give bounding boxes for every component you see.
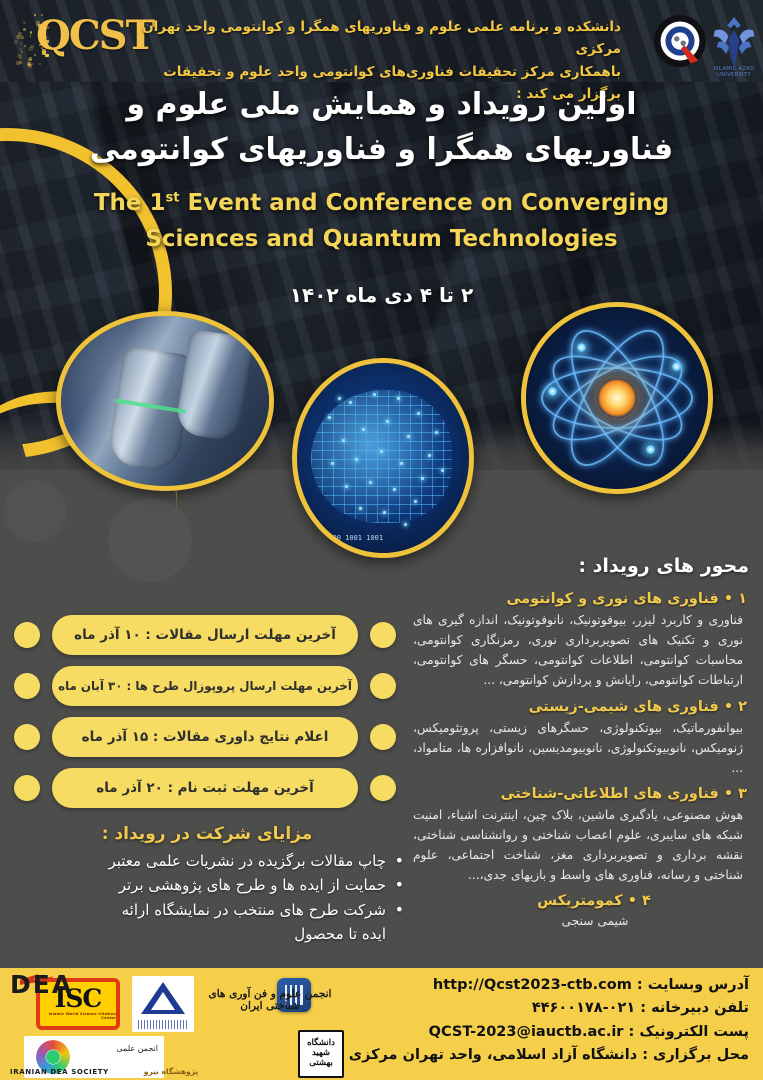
topic-item: ۳ • فناوری های اطلاعاتی-شناختی هوش مصنوع… <box>407 786 755 886</box>
isc-subtitle: Islamic World Science Citation Center <box>40 1012 116 1020</box>
website-url[interactable]: http://Qcst2023-ctb.com <box>433 977 632 993</box>
decoration-dot-left <box>14 775 40 801</box>
ordinal-suffix: st <box>166 190 180 205</box>
topic-title: ۴ • کمومتریکس <box>407 893 747 909</box>
venue-label: محل برگزاری : <box>642 1047 749 1063</box>
decoration-dot-right <box>370 622 396 648</box>
decoration-dot-left <box>14 622 40 648</box>
organizer-line-1: دانشکده و برنامه علمی علوم و فناوریهای ه… <box>121 16 621 61</box>
venue-line: محل برگزاری : دانشگاه آزاد اسلامی، واحد … <box>319 1044 749 1067</box>
email-line: پست الکترونیک : QCST-2023@iauctb.ac.ir <box>319 1021 749 1044</box>
benefit-item: حمایت از ایده ها و طرح های پژوهشی برتر <box>8 873 406 897</box>
english-title-line-1: The 1st Event and Conference on Convergi… <box>0 186 763 222</box>
decoration-dot-left <box>14 673 40 699</box>
decoration-dot-right <box>370 724 396 750</box>
deadline-pill: آخرین مهلت ارسال پروپوزال طرح ها : ۳۰ آب… <box>52 666 358 706</box>
sponsor-logos: ISC Islamic World Science Citation Cente… <box>6 972 336 1078</box>
deadline-row: آخرین مهلت ارسال پروپوزال طرح ها : ۳۰ آب… <box>0 663 410 709</box>
topic-number: ۴ • <box>628 893 651 909</box>
qcst-circular-logo-icon <box>653 14 707 68</box>
islamic-azad-university-logo-icon <box>712 12 756 74</box>
event-date: ۲ تا ۴ دی ماه ۱۴۰۲ <box>0 283 763 307</box>
topic-title: ۳ • فناوری های اطلاعاتی-شناختی <box>407 786 747 802</box>
topic-number: ۱ • <box>724 591 747 607</box>
email-address[interactable]: QCST-2023@iauctb.ac.ir <box>429 1024 624 1040</box>
phone-label: تلفن دبیرخانه : <box>640 1000 749 1016</box>
persian-title-line-2: فناوریهای همگرا و فناوریهای کوانتومی <box>0 127 763 172</box>
deadline-row: آخرین مهلت ثبت نام : ۲۰ آذر ماه <box>0 765 410 811</box>
footer-bar: آدرس وبسایت : http://Qcst2023-ctb.com تل… <box>0 968 763 1080</box>
topic-label: کمومتریکس <box>537 893 623 909</box>
persian-title-line-1: اولین رویداد و همایش ملی علوم و <box>0 82 763 127</box>
phone-number: ۰۲۱-۴۴۶۰۰۱۷۸ <box>532 1000 635 1016</box>
decoration-dot-right <box>370 673 396 699</box>
dea-subtitle: IRANIAN DEA SOCIETY <box>10 1068 109 1076</box>
contact-info: آدرس وبسایت : http://Qcst2023-ctb.com تل… <box>319 974 749 1068</box>
topic-title: ۱ • فناوری های نوری و کوانتومی <box>407 591 747 607</box>
topic-item: ۴ • کمومتریکس شیمی سنجی <box>407 893 755 932</box>
shahid-beheshti-university-logo: دانشگاه شهید بهشتی <box>298 1030 344 1078</box>
topic-label: فناوری های اطلاعاتی-شناختی <box>501 786 719 802</box>
topic-label: فناوری های نوری و کوانتومی <box>506 591 718 607</box>
benefits-section: مزایای شرکت در رویداد : چاپ مقالات برگزی… <box>8 824 406 946</box>
topic-body: شیمی سنجی <box>407 912 755 932</box>
deadline-pill: آخرین مهلت ثبت نام : ۲۰ آذر ماه <box>52 768 358 808</box>
topic-title: ۲ • فناوری های شیمی-زیستی <box>407 699 747 715</box>
qcst-logo: QCST <box>10 8 134 70</box>
deadlines-section: آخرین مهلت ارسال مقالات : ۱۰ آذر ماه آخر… <box>0 612 410 816</box>
benefit-continuation: ایده تا محصول <box>8 922 406 946</box>
website-label: آدرس وبسایت : <box>637 977 749 993</box>
decoration-dot-left <box>14 724 40 750</box>
circuit-brain-image: 0110 0100 1001 1001 <box>292 358 474 558</box>
persian-title: اولین رویداد و همایش ملی علوم و فناوریها… <box>0 82 763 172</box>
deadline-pill: اعلام نتایج داوری مقالات : ۱۵ آذر ماه <box>52 717 358 757</box>
decoration-dot-right <box>370 775 396 801</box>
english-title-prefix: The 1 <box>94 190 166 216</box>
binary-code-text: 0110 0100 1001 1001 <box>303 534 383 543</box>
triangle-institute-logo <box>132 976 194 1032</box>
email-label: پست الکترونیک : <box>629 1024 749 1040</box>
deadline-pill: آخرین مهلت ارسال مقالات : ۱۰ آذر ماه <box>52 615 358 655</box>
benefits-heading: مزایای شرکت در رویداد : <box>8 824 406 844</box>
science-association-name: انجمن علمی <box>116 1044 158 1054</box>
sbu-name: دانشگاه شهید بهشتی <box>302 1034 340 1074</box>
venue-name: دانشگاه آزاد اسلامی، واحد تهران مرکزی <box>349 1047 637 1063</box>
nucleus <box>597 378 637 418</box>
topics-heading: محور های رویداد : <box>407 555 755 583</box>
benefit-item: شرکت طرح های منتخب در نمایشگاه ارائه <box>8 898 406 922</box>
topic-number: ۲ • <box>724 699 747 715</box>
dea-title: DEA <box>10 972 73 997</box>
conference-poster: QCST دانشکده و برنامه علمی علوم و فناوری… <box>0 0 763 1080</box>
deadline-row: اعلام نتایج داوری مقالات : ۱۵ آذر ماه <box>0 714 410 760</box>
circuit-nodes <box>297 363 469 553</box>
english-title-rest: Event and Conference on Converging <box>188 190 670 216</box>
deadline-row: آخرین مهلت ارسال مقالات : ۱۰ آذر ماه <box>0 612 410 658</box>
english-title-line-2: Sciences and Quantum Technologies <box>0 222 763 258</box>
topic-number: ۳ • <box>724 786 747 802</box>
topic-body: فناوری و کاربرد لیزر، بیوفوتونیک، نانوفو… <box>407 610 755 691</box>
microscope-objectives-image <box>56 311 274 491</box>
phone-line: تلفن دبیرخانه : ۰۲۱-۴۴۶۰۰۱۷۸ <box>319 997 749 1020</box>
benefit-item: چاپ مقالات برگزیده در نشریات علمی معتبر <box>8 849 406 873</box>
topic-body: بیوانفورماتیک، بیوتکنولوژی، حسگرهای زیست… <box>407 718 755 778</box>
topic-item: ۲ • فناوری های شیمی-زیستی بیوانفورماتیک،… <box>407 699 755 778</box>
cognitive-society-name: انجمن علوم و فن آوری های شناختی ایران <box>202 988 338 1012</box>
english-title: The 1st Event and Conference on Convergi… <box>0 186 763 257</box>
atom-image <box>521 302 713 494</box>
topics-section: محور های رویداد : ۱ • فناوری های نوری و … <box>407 555 755 932</box>
topic-body: هوش مصنوعی، یادگیری ماشین، بلاک چین، این… <box>407 805 755 886</box>
website-line: آدرس وبسایت : http://Qcst2023-ctb.com <box>319 974 749 997</box>
topic-label: فناوری های شیمی-زیستی <box>529 699 719 715</box>
topic-item: ۱ • فناوری های نوری و کوانتومی فناوری و … <box>407 591 755 691</box>
